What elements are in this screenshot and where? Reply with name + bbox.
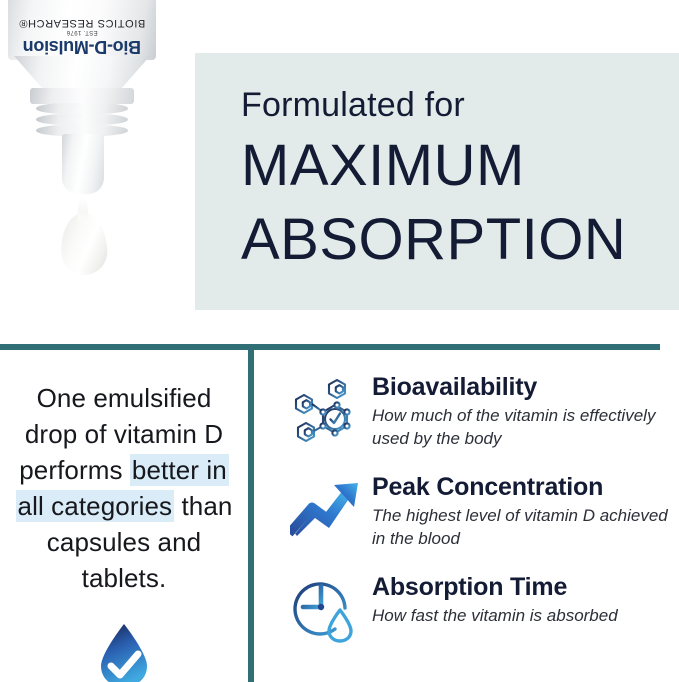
feature-bioavailability: Bioavailability How much of the vitamin … bbox=[290, 372, 671, 450]
bottle-collar bbox=[30, 88, 134, 104]
feature-description: The highest level of vitamin D achieved … bbox=[372, 504, 671, 550]
bottle-label: Bio-D-Mulsion EST. 1976 BIOTICS RESEARCH… bbox=[8, 0, 156, 60]
bottle-shoulder bbox=[14, 56, 150, 90]
statement-icon-wrap bbox=[12, 622, 236, 682]
feature-title: Peak Concentration bbox=[372, 472, 671, 502]
clock-droplet-icon bbox=[290, 576, 360, 646]
feature-icon-wrap bbox=[290, 572, 368, 646]
upward-trend-arrow-icon bbox=[290, 480, 360, 538]
bottle-thread-ring bbox=[36, 103, 128, 114]
feature-icon-wrap bbox=[290, 472, 368, 538]
dispensed-liquid-drop bbox=[60, 212, 108, 276]
infographic-page: Bio-D-Mulsion EST. 1976 BIOTICS RESEARCH… bbox=[0, 0, 679, 682]
feature-peak-concentration: Peak Concentration The highest level of … bbox=[290, 472, 671, 550]
feature-absorption-time: Absorption Time How fast the vitamin is … bbox=[290, 572, 671, 646]
bottle-company-name: BIOTICS RESEARCH® bbox=[19, 17, 146, 29]
header-headline-line-1: MAXIMUM bbox=[241, 133, 679, 199]
bottle-thread-ring bbox=[36, 114, 128, 125]
bottle-brand-name: Bio-D-Mulsion bbox=[23, 37, 141, 57]
molecule-check-icon bbox=[290, 376, 360, 446]
feature-text: Bioavailability How much of the vitamin … bbox=[368, 372, 671, 450]
feature-icon-wrap bbox=[290, 372, 368, 446]
feature-description: How much of the vitamin is effectively u… bbox=[372, 404, 671, 450]
header-kicker: Formulated for bbox=[241, 85, 679, 125]
bottle-dropper-nozzle bbox=[62, 134, 104, 194]
header-panel: Formulated for MAXIMUM ABSORPTION bbox=[195, 53, 679, 310]
statement-text: One emulsified drop of vitamin D perform… bbox=[12, 380, 236, 596]
feature-title: Bioavailability bbox=[372, 372, 671, 402]
features-column: Bioavailability How much of the vitamin … bbox=[254, 344, 679, 682]
bottle-established-text: EST. 1976 bbox=[66, 29, 97, 35]
feature-text: Absorption Time How fast the vitamin is … bbox=[368, 572, 671, 627]
feature-title: Absorption Time bbox=[372, 572, 671, 602]
water-drop-check-icon bbox=[97, 622, 151, 682]
header-headline-line-2: ABSORPTION bbox=[241, 207, 679, 273]
product-bottle-image: Bio-D-Mulsion EST. 1976 BIOTICS RESEARCH… bbox=[0, 0, 195, 330]
statement-column: One emulsified drop of vitamin D perform… bbox=[0, 350, 248, 682]
feature-text: Peak Concentration The highest level of … bbox=[368, 472, 671, 550]
feature-description: How fast the vitamin is absorbed bbox=[372, 604, 671, 627]
